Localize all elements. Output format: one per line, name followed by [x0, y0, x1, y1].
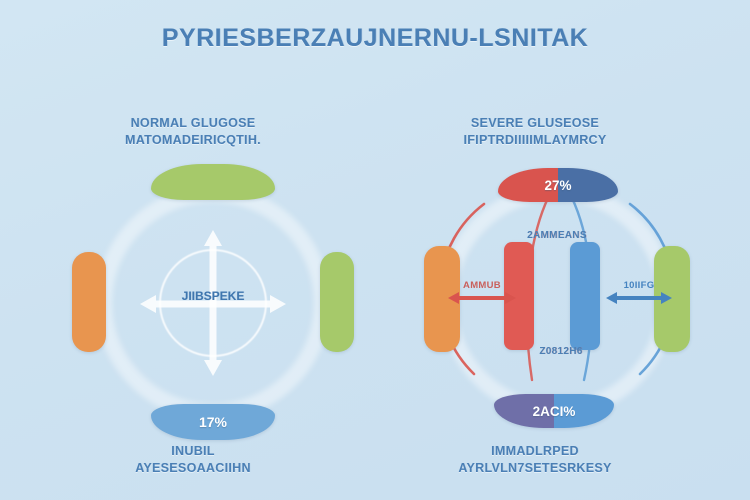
right-caption-bottom-line1: IMMADLRPED — [491, 444, 579, 458]
arc-top[interactable]: 27% — [498, 168, 618, 202]
segment-bottom[interactable]: 17% — [151, 404, 275, 440]
severe-glucose-diagram: 27% 2ACI% 2AMMEANS Z0812H6 AMMUB 10IIFG — [422, 166, 692, 436]
center-label: JIIBSPEKE — [159, 289, 267, 303]
blue-bar[interactable] — [570, 242, 600, 350]
left-caption-top-line1: NORMAL GLUGOSE — [131, 116, 256, 130]
segment-right[interactable] — [320, 252, 354, 352]
segment-bottom-percent: 17% — [199, 414, 227, 430]
inner-ring — [159, 249, 267, 357]
inner-label-upper: 2AMMEANS — [502, 230, 612, 241]
left-caption-top-line2: MATOMADEIRICQTIH. — [63, 132, 323, 149]
inner-label-lower: Z0812H6 — [506, 346, 616, 357]
arc-top-percent: 27% — [544, 178, 571, 193]
right-caption-top-line2: IFIPTRDIIIIIMLAYMRCY — [405, 132, 665, 149]
left-double-arrow-icon — [448, 290, 516, 306]
right-double-arrow-icon — [606, 290, 672, 306]
page-title: PYRIESBERZAUJNERNU-LSNITAK — [0, 24, 750, 53]
normal-glucose-diagram: 17% JIIBSPEKE — [78, 168, 348, 438]
right-caption-bottom-line2: AYRLVLN7SETESRKESY — [405, 460, 665, 477]
right-caption-top: SEVERE GLUSEOSE IFIPTRDIIIIIMLAYMRCY — [405, 115, 665, 149]
arc-bottom[interactable]: 2ACI% — [494, 394, 614, 428]
segment-left[interactable] — [72, 252, 106, 352]
segment-top[interactable] — [151, 164, 275, 200]
left-caption-bottom-line1: INUBIL — [171, 444, 214, 458]
diagram-canvas: PYRIESBERZAUJNERNU-LSNITAK NORMAL GLUGOS… — [0, 0, 750, 500]
left-caption-top: NORMAL GLUGOSE MATOMADEIRICQTIH. — [63, 115, 323, 149]
arc-bottom-percent: 2ACI% — [533, 404, 576, 419]
right-caption-top-line1: SEVERE GLUSEOSE — [471, 116, 599, 130]
right-caption-bottom: IMMADLRPED AYRLVLN7SETESRKESY — [405, 443, 665, 477]
left-caption-bottom-line2: AYESESOAACIIHN — [63, 460, 323, 477]
left-caption-bottom: INUBIL AYESESOAACIIHN — [63, 443, 323, 477]
